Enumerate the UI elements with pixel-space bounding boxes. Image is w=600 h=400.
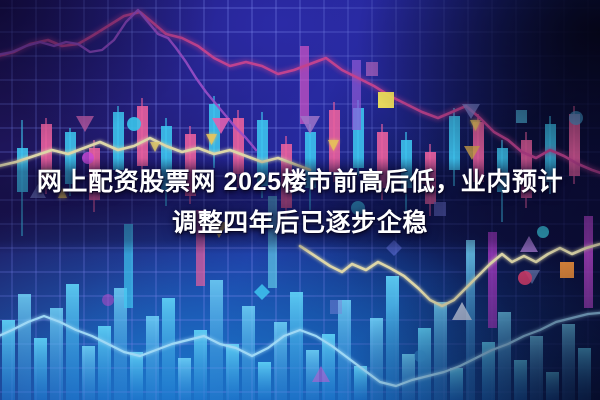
page-title: 网上配资股票网 2025楼市前高后低，业内预计 调整四年后已逐步企稳 bbox=[0, 162, 600, 244]
banner-root: 网上配资股票网 2025楼市前高后低，业内预计 调整四年后已逐步企稳 bbox=[0, 0, 600, 400]
headline-line-1: 网上配资股票网 2025楼市前高后低，业内预计 bbox=[0, 162, 600, 203]
headline-line-2: 调整四年后已逐步企稳 bbox=[0, 203, 600, 244]
